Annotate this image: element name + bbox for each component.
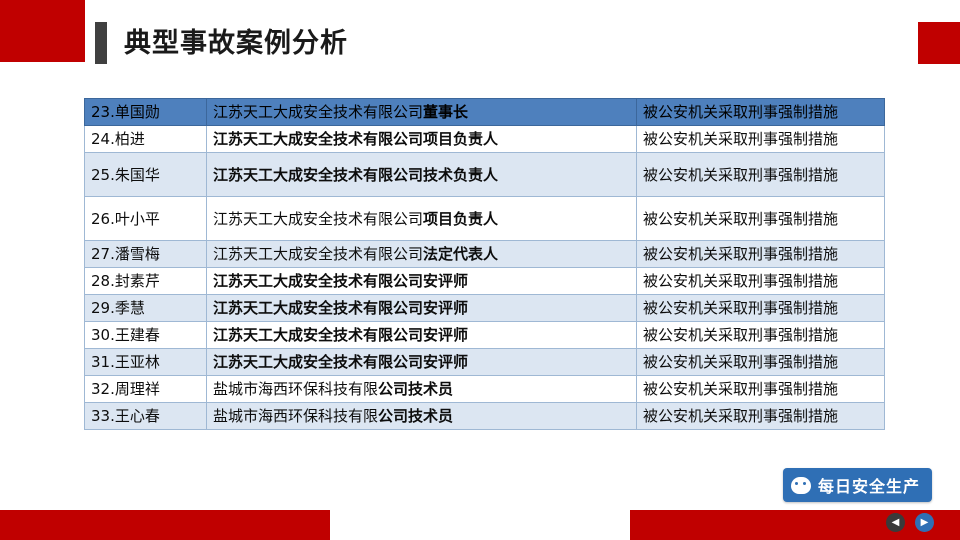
case-table: 23.单国勋 江苏天工大成安全技术有限公司董事长 被公安机关采取刑事强制措施 2… [84,98,885,430]
org-text: 江苏天工大成安全技术有限公司 [213,210,423,228]
prev-slide-button[interactable]: ◀ [886,513,905,532]
wechat-account-badge[interactable]: 每日安全生产 [783,468,932,502]
top-left-red-block [0,0,85,62]
action-text: 被公安机关采取刑事强制措施 [643,299,838,317]
action-text: 被公安机关采取刑事强制措施 [643,326,838,344]
bottom-left-red-bar [0,510,330,540]
cell-name: 32.周理祥 [85,376,207,403]
table-row: 31.王亚林 江苏天工大成安全技术有限公司安评师 被公安机关采取刑事强制措施 [85,349,885,376]
person-name: 24.柏进 [91,130,145,148]
table-row: 25.朱国华 江苏天工大成安全技术有限公司技术负责人 被公安机关采取刑事强制措施 [85,153,885,197]
top-right-red-block [918,22,960,64]
person-name: 33.王心春 [91,407,160,425]
org-text: 江苏天工大成安全技术有限公司 [213,245,423,263]
cell-name: 28.封素芹 [85,268,207,295]
cell-org: 江苏天工大成安全技术有限公司项目负责人 [207,197,637,241]
person-name: 23.单国勋 [91,103,160,121]
role-text: 江苏天工大成安全技术有限公司安评师 [213,272,468,290]
slide-canvas: 典型事故案例分析 23.单国勋 江苏天工大成安全技术有限公司董事长 被公安机关采… [0,0,960,540]
chevron-right-icon: ▶ [921,518,929,528]
org-text: 江苏天工大成安全技术有限公司 [213,103,423,121]
cell-org: 江苏天工大成安全技术有限公司董事长 [207,99,637,126]
org-text: 盐城市海西环保科技有限 [213,407,378,425]
action-text: 被公安机关采取刑事强制措施 [643,166,838,184]
cell-org: 盐城市海西环保科技有限公司技术员 [207,376,637,403]
table-row: 33.王心春 盐城市海西环保科技有限公司技术员 被公安机关采取刑事强制措施 [85,403,885,430]
wechat-account-name: 每日安全生产 [818,473,920,497]
role-text: 江苏天工大成安全技术有限公司项目负责人 [213,130,498,148]
person-name: 29.季慧 [91,299,145,317]
person-name: 26.叶小平 [91,210,160,228]
chevron-left-icon: ◀ [892,518,900,528]
cell-org: 盐城市海西环保科技有限公司技术员 [207,403,637,430]
cell-name: 23.单国勋 [85,99,207,126]
cell-action: 被公安机关采取刑事强制措施 [637,322,885,349]
title-accent-bar [95,22,107,64]
action-text: 被公安机关采取刑事强制措施 [643,272,838,290]
cell-name: 30.王建春 [85,322,207,349]
action-text: 被公安机关采取刑事强制措施 [643,353,838,371]
action-text: 被公安机关采取刑事强制措施 [643,210,838,228]
action-text: 被公安机关采取刑事强制措施 [643,103,838,121]
role-text: 公司技术员 [378,407,453,425]
cell-action: 被公安机关采取刑事强制措施 [637,295,885,322]
cell-action: 被公安机关采取刑事强制措施 [637,376,885,403]
table-row: 32.周理祥 盐城市海西环保科技有限公司技术员 被公安机关采取刑事强制措施 [85,376,885,403]
action-text: 被公安机关采取刑事强制措施 [643,380,838,398]
wechat-icon [791,477,811,494]
cell-name: 26.叶小平 [85,197,207,241]
cell-org: 江苏天工大成安全技术有限公司技术负责人 [207,153,637,197]
action-text: 被公安机关采取刑事强制措施 [643,407,838,425]
action-text: 被公安机关采取刑事强制措施 [643,130,838,148]
role-text: 江苏天工大成安全技术有限公司技术负责人 [213,166,498,184]
org-text: 盐城市海西环保科技有限 [213,380,378,398]
role-text: 项目负责人 [423,210,498,228]
case-table-wrapper: 23.单国勋 江苏天工大成安全技术有限公司董事长 被公安机关采取刑事强制措施 2… [84,98,884,430]
role-text: 江苏天工大成安全技术有限公司安评师 [213,299,468,317]
person-name: 32.周理祥 [91,380,160,398]
cell-name: 25.朱国华 [85,153,207,197]
cell-org: 江苏天工大成安全技术有限公司法定代表人 [207,241,637,268]
cell-action: 被公安机关采取刑事强制措施 [637,126,885,153]
table-row: 23.单国勋 江苏天工大成安全技术有限公司董事长 被公安机关采取刑事强制措施 [85,99,885,126]
next-slide-button[interactable]: ▶ [915,513,934,532]
role-text: 江苏天工大成安全技术有限公司安评师 [213,353,468,371]
person-name: 28.封素芹 [91,272,160,290]
cell-name: 29.季慧 [85,295,207,322]
person-name: 31.王亚林 [91,353,160,371]
cell-name: 27.潘雪梅 [85,241,207,268]
role-text: 江苏天工大成安全技术有限公司安评师 [213,326,468,344]
table-row: 26.叶小平 江苏天工大成安全技术有限公司项目负责人 被公安机关采取刑事强制措施 [85,197,885,241]
table-row: 28.封素芹 江苏天工大成安全技术有限公司安评师 被公安机关采取刑事强制措施 [85,268,885,295]
cell-name: 31.王亚林 [85,349,207,376]
cell-action: 被公安机关采取刑事强制措施 [637,241,885,268]
cell-action: 被公安机关采取刑事强制措施 [637,349,885,376]
role-text: 董事长 [423,103,468,121]
action-text: 被公安机关采取刑事强制措施 [643,245,838,263]
person-name: 27.潘雪梅 [91,245,160,263]
cell-org: 江苏天工大成安全技术有限公司安评师 [207,349,637,376]
cell-action: 被公安机关采取刑事强制措施 [637,197,885,241]
cell-org: 江苏天工大成安全技术有限公司项目负责人 [207,126,637,153]
bottom-middle-white-bar [330,510,630,540]
table-row: 27.潘雪梅 江苏天工大成安全技术有限公司法定代表人 被公安机关采取刑事强制措施 [85,241,885,268]
table-row: 29.季慧 江苏天工大成安全技术有限公司安评师 被公安机关采取刑事强制措施 [85,295,885,322]
page-title: 典型事故案例分析 [124,24,348,64]
person-name: 25.朱国华 [91,166,160,184]
table-row: 24.柏进 江苏天工大成安全技术有限公司项目负责人 被公安机关采取刑事强制措施 [85,126,885,153]
person-name: 30.王建春 [91,326,160,344]
cell-name: 24.柏进 [85,126,207,153]
cell-name: 33.王心春 [85,403,207,430]
table-row: 30.王建春 江苏天工大成安全技术有限公司安评师 被公安机关采取刑事强制措施 [85,322,885,349]
cell-action: 被公安机关采取刑事强制措施 [637,268,885,295]
cell-action: 被公安机关采取刑事强制措施 [637,99,885,126]
cell-action: 被公安机关采取刑事强制措施 [637,153,885,197]
cell-org: 江苏天工大成安全技术有限公司安评师 [207,268,637,295]
role-text: 法定代表人 [423,245,498,263]
cell-action: 被公安机关采取刑事强制措施 [637,403,885,430]
role-text: 公司技术员 [378,380,453,398]
cell-org: 江苏天工大成安全技术有限公司安评师 [207,295,637,322]
case-table-body: 23.单国勋 江苏天工大成安全技术有限公司董事长 被公安机关采取刑事强制措施 2… [85,99,885,430]
cell-org: 江苏天工大成安全技术有限公司安评师 [207,322,637,349]
slide-navigation: ◀ ▶ [886,513,934,532]
